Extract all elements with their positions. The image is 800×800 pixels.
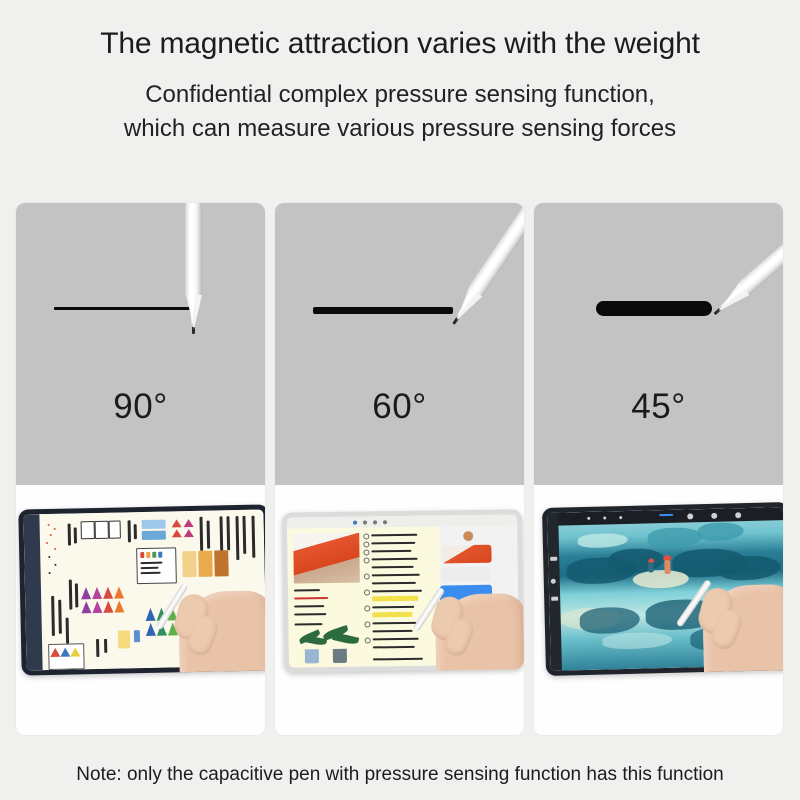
panel-45: 45° — [534, 203, 783, 735]
photo-handwritten-notes — [16, 485, 265, 735]
photo-split-screen-checklist — [275, 485, 524, 735]
angle-label-45: 45° — [534, 387, 783, 427]
stylus-body — [185, 203, 202, 295]
pen-angle-demo-60: 60° — [275, 203, 524, 485]
angle-label-90: 90° — [16, 387, 265, 427]
inserted-photo — [293, 533, 360, 584]
stylus-60 — [446, 203, 524, 329]
stylus-90 — [185, 203, 202, 334]
footer-note: Note: only the capacitive pen with press… — [0, 764, 800, 786]
stylus-cone — [713, 282, 749, 316]
stylus-body — [738, 203, 783, 295]
page-header: The magnetic attraction varies with the … — [0, 0, 800, 146]
page-title: The magnetic attraction varies with the … — [0, 26, 800, 62]
subtitle-line-1: Confidential complex pressure sensing fu… — [60, 78, 740, 112]
pen-angle-demo-90: 90° — [16, 203, 265, 485]
notes-toolbar — [23, 514, 42, 670]
pen-angle-demo-45: 45° — [534, 203, 783, 485]
figure-right — [664, 560, 670, 574]
tablet-device — [282, 509, 524, 672]
tablet-device — [542, 502, 783, 676]
panel-60: 60° — [275, 203, 524, 735]
photo-digital-painting — [534, 485, 783, 735]
tablet-device — [18, 504, 265, 675]
page-subtitle: Confidential complex pressure sensing fu… — [0, 78, 800, 146]
stroke-sample-45 — [596, 301, 712, 316]
stroke-sample-90 — [54, 307, 194, 310]
demo-panel-row: 90° — [16, 203, 784, 735]
stylus-body — [468, 203, 524, 296]
figure-left — [648, 562, 653, 572]
angle-label-60: 60° — [275, 387, 524, 427]
panel-90: 90° — [16, 203, 265, 735]
stylus-cone — [450, 287, 482, 324]
stylus-45 — [709, 203, 783, 320]
stylus-cone — [186, 295, 202, 329]
subtitle-line-2: which can measure various pressure sensi… — [60, 112, 740, 146]
stroke-sample-60 — [313, 307, 453, 314]
